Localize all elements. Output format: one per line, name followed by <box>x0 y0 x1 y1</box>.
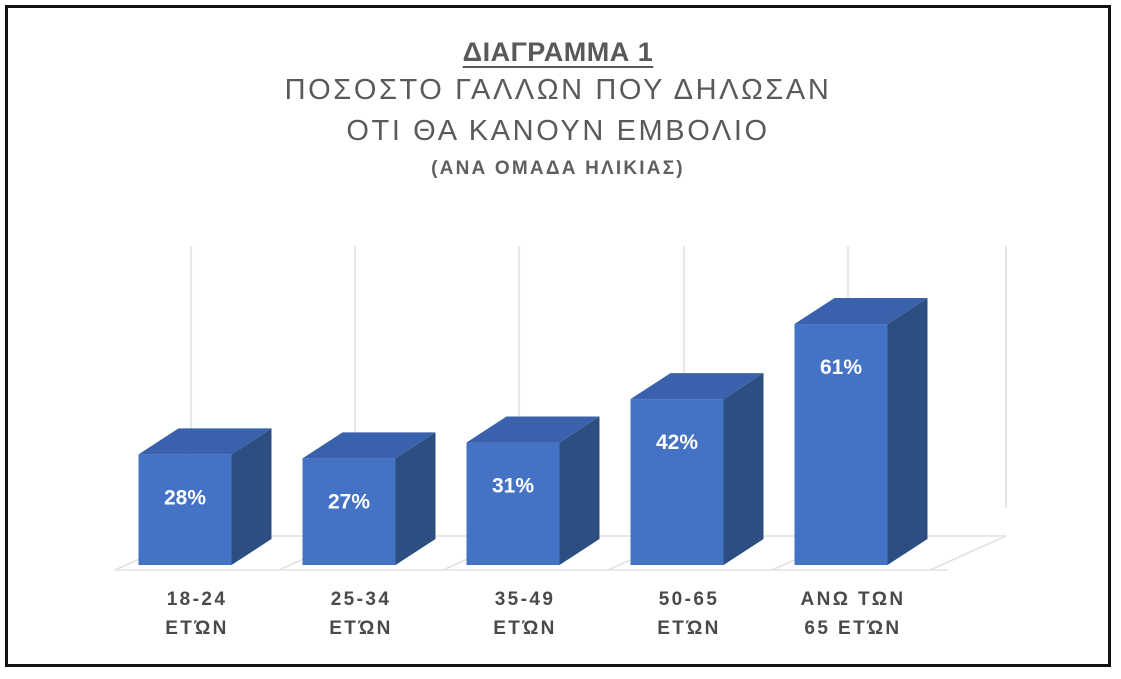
bar-value-label-0: 28% <box>164 486 206 509</box>
floor-depth-line-3 <box>608 536 684 570</box>
bar-side-face-2 <box>560 417 600 565</box>
bar-side-face-1 <box>396 432 436 565</box>
chart-title-block: ΔΙΑΓΡΑΜΜΑ 1 ΠΟΣΟΣΤΟ ΓΑΛΛΩΝ ΠΟΥ ΔΗΛΩΣΑΝ Ο… <box>8 36 1108 184</box>
bar-front-face-2 <box>467 443 560 565</box>
bar-top-face-3 <box>631 373 764 399</box>
floor-depth-line-5 <box>930 536 1006 570</box>
chart-title-line-3: ΟΤΙ ΘΑ ΚΑΝΟΥΝ ΕΜΒΟΛΙΟ <box>8 111 1108 152</box>
bar-value-label-1: 27% <box>328 490 370 513</box>
bar-front-face-4 <box>795 324 888 565</box>
category-label-3: 50-65 ΕΤΏΝ <box>599 586 779 644</box>
bar-side-face-4 <box>888 298 928 565</box>
bar-value-label-3: 42% <box>656 431 698 454</box>
chart-subtitle: (ΑΝΑ ΟΜΑΔΑ ΗΛΙΚΙΑΣ) <box>8 155 1108 184</box>
bar-value-label-2: 31% <box>492 475 534 498</box>
bar-front-face-1 <box>303 458 396 565</box>
bar-front-face-3 <box>631 399 724 565</box>
gridlines-group <box>191 246 1006 536</box>
floor-depth-line-2 <box>443 536 519 570</box>
floor-group <box>115 536 1006 570</box>
category-label-1: 25-34 ΕΤΏΝ <box>271 586 451 644</box>
slide-frame: ΔΙΑΓΡΑΜΜΑ 1 ΠΟΣΟΣΤΟ ΓΑΛΛΩΝ ΠΟΥ ΔΗΛΩΣΑΝ Ο… <box>5 5 1111 667</box>
floor-depth-line-1 <box>279 536 355 570</box>
bar-top-face-2 <box>467 417 600 443</box>
floor-depth-line-0 <box>115 536 191 570</box>
bar-side-face-0 <box>232 428 272 565</box>
bar-side-face-3 <box>724 373 764 565</box>
category-label-0: 18-24 ΕΤΏΝ <box>107 586 287 644</box>
bar-top-face-0 <box>139 428 272 454</box>
category-label-2: 35-49 ΕΤΏΝ <box>435 586 615 644</box>
bar-top-face-1 <box>303 432 436 458</box>
category-label-4: ΑΝΩ ΤΩΝ 65 ΕΤΏΝ <box>763 586 943 644</box>
chart-title-line-2: ΠΟΣΟΣΤΟ ΓΑΛΛΩΝ ΠΟΥ ΔΗΛΩΣΑΝ <box>8 70 1108 111</box>
bar-top-face-4 <box>795 298 928 324</box>
floor-depth-line-4 <box>772 536 848 570</box>
slide-canvas: ΔΙΑΓΡΑΜΜΑ 1 ΠΟΣΟΣΤΟ ΓΑΛΛΩΝ ΠΟΥ ΔΗΛΩΣΑΝ Ο… <box>8 8 1108 664</box>
bar-front-face-0 <box>139 454 232 565</box>
chart-title-line-1: ΔΙΑΓΡΑΜΜΑ 1 <box>8 36 1108 70</box>
category-axis-labels: 18-24 ΕΤΏΝ25-34 ΕΤΏΝ35-49 ΕΤΏΝ50-65 ΕΤΏΝ… <box>8 586 1108 656</box>
bars-group: 28%27%31%42%61% <box>139 298 928 565</box>
bar-value-label-4: 61% <box>820 356 862 379</box>
